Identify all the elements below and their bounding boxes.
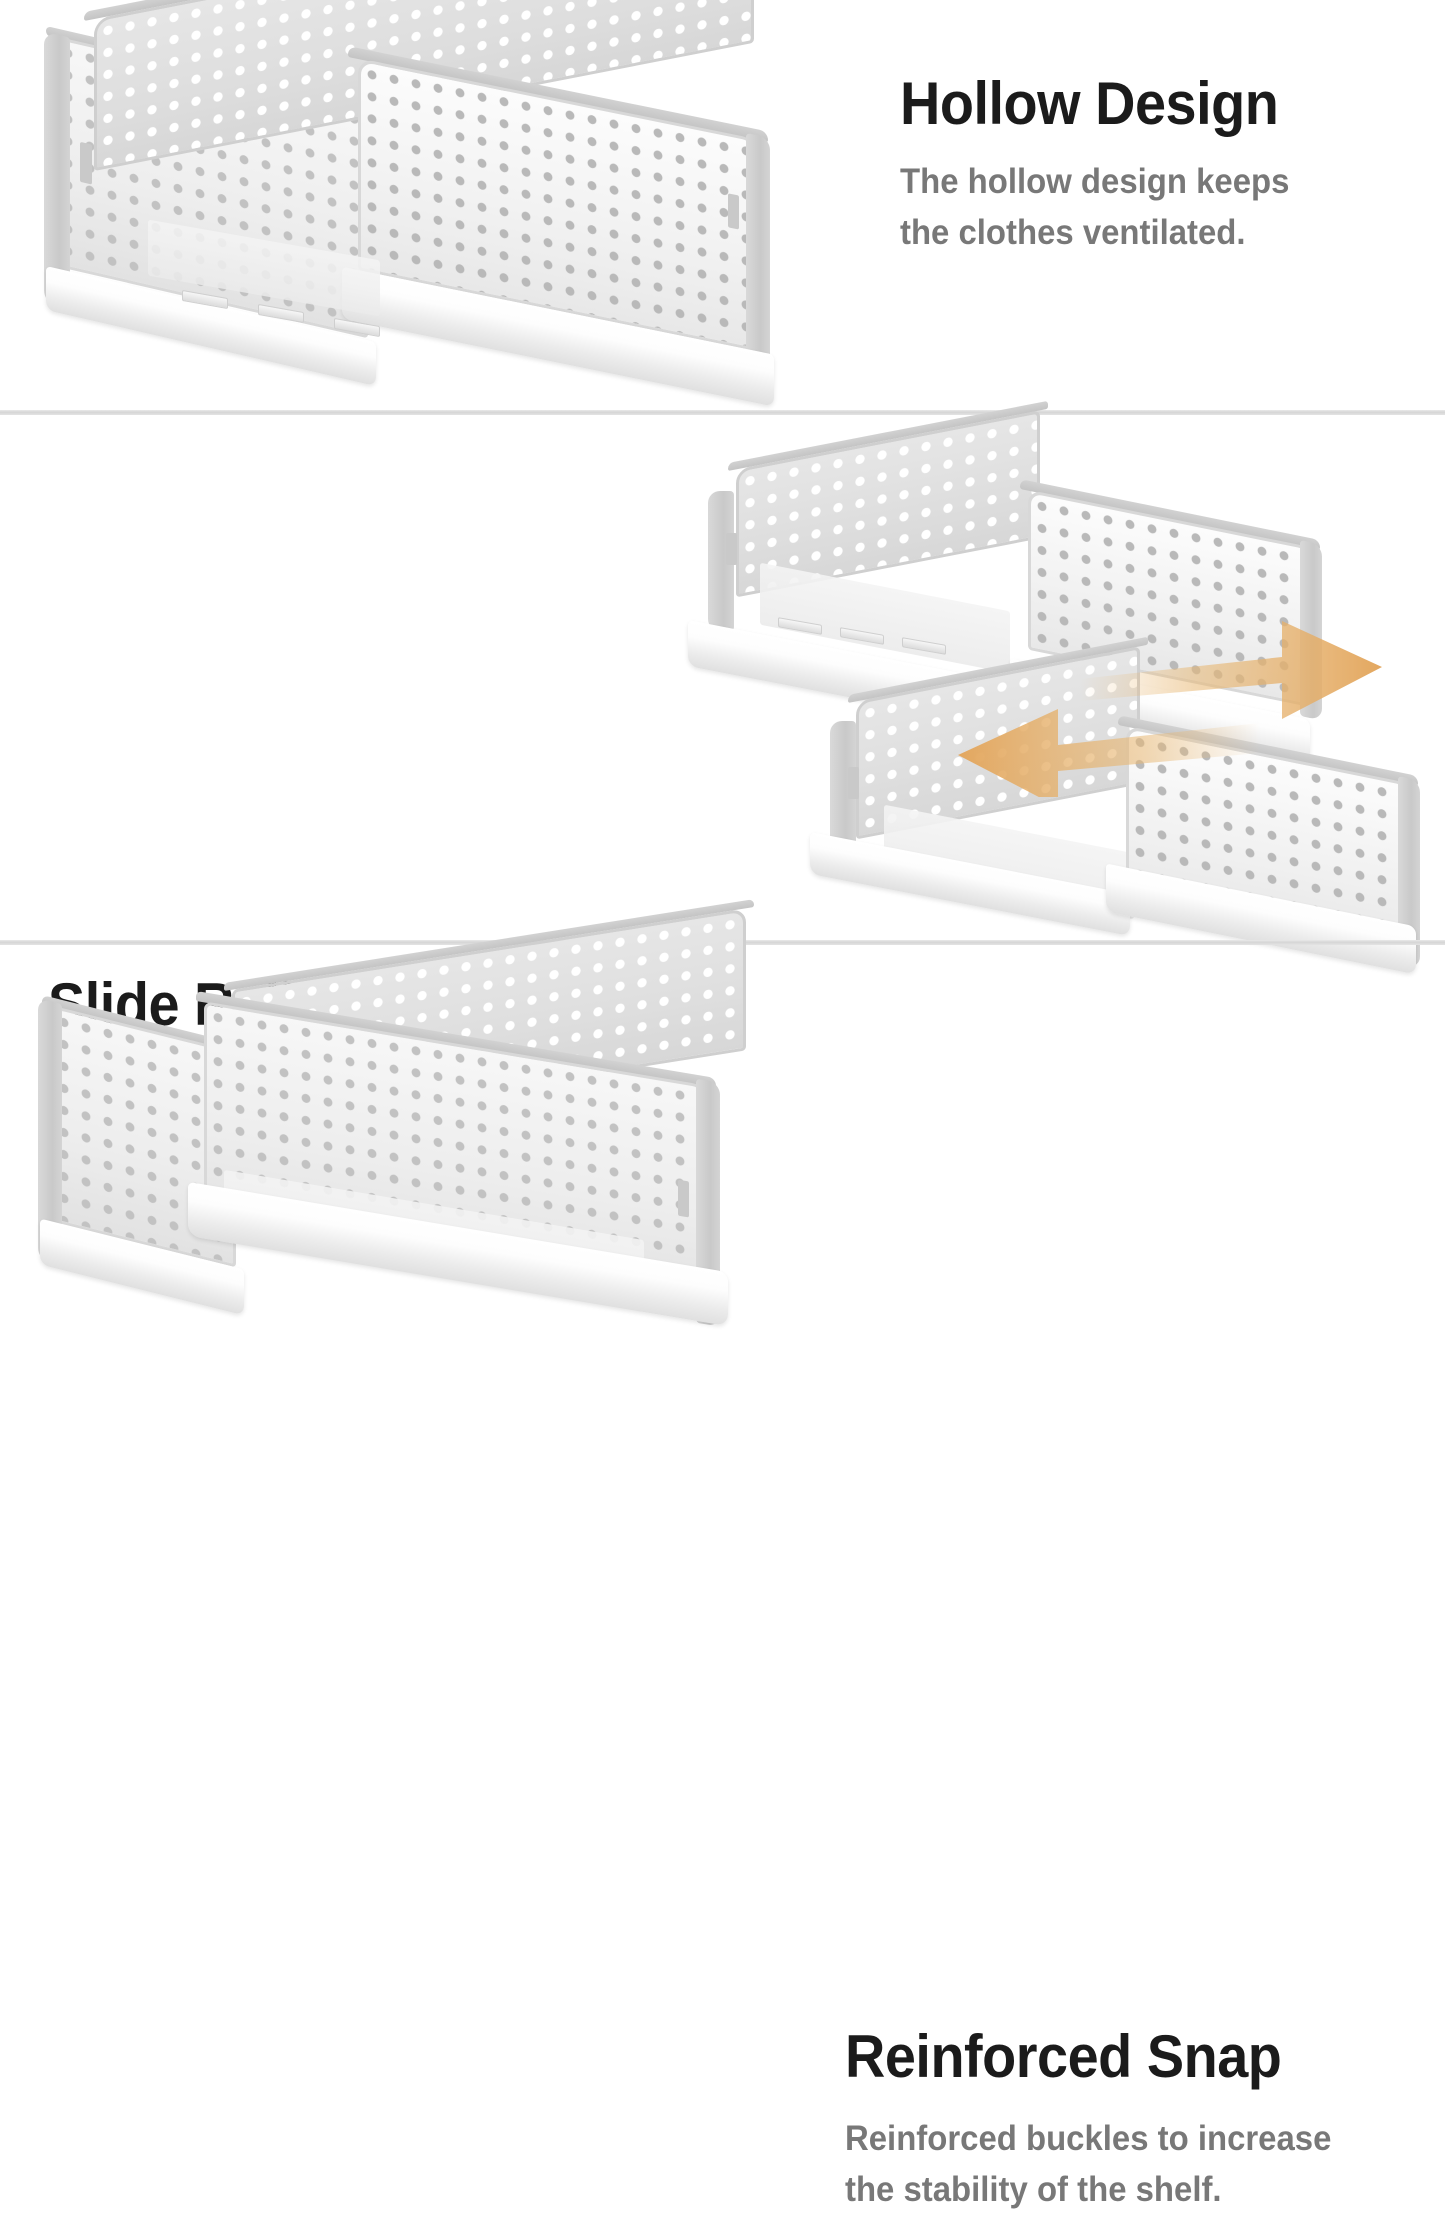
feature-title: Reinforced Snap: [845, 2025, 1394, 2088]
arrow-left-head-icon: [958, 709, 1260, 797]
feature-description-line: the stability of the shelf.: [845, 2170, 1222, 2209]
basket-hinge-notch-front-right: [728, 193, 739, 229]
snap-basket-hinge-notch-right: [678, 1180, 689, 1218]
slide-direction-double-arrow-icon: [930, 597, 1430, 797]
arrow-right-head-icon: [1080, 621, 1382, 719]
feature-description-line: Reinforced buckles to increase: [845, 2119, 1331, 2158]
feature-description-line: the clothes ventilated.: [900, 213, 1246, 252]
product-image-reinforced-snap: [28, 977, 788, 1347]
feature-panel-hollow-design: Hollow Design The hollow design keeps th…: [0, 0, 1445, 412]
feature-title: Hollow Design: [900, 72, 1384, 135]
product-infographic: Hollow Design The hollow design keeps th…: [0, 0, 1445, 1358]
lower-drawer-hinge-notch-left: [848, 767, 859, 799]
feature-description: The hollow design keeps the clothes vent…: [900, 157, 1389, 259]
feature-text-reinforced-snap: Reinforced Snap Reinforced buckles to in…: [845, 2025, 1435, 2216]
product-image-hollow-design: [30, 8, 790, 398]
feature-text-hollow-design: Hollow Design The hollow design keeps th…: [900, 72, 1420, 259]
basket-front-wall: [348, 46, 768, 431]
product-image-slide-rails: [680, 437, 1445, 917]
feature-panel-slide-rails: Slide Rails Stable stacking and easy sli…: [0, 417, 1445, 942]
panel-divider: [0, 410, 1445, 415]
feature-panel-reinforced-snap: Reinforced Snap Reinforced buckles to in…: [0, 947, 1445, 1358]
feature-description: Reinforced buckles to increase the stabi…: [845, 2114, 1400, 2216]
basket-hinge-post-front-right: [746, 133, 770, 368]
feature-description-line: The hollow design keeps: [900, 162, 1289, 201]
upper-drawer-hinge-notch-left: [726, 533, 737, 565]
